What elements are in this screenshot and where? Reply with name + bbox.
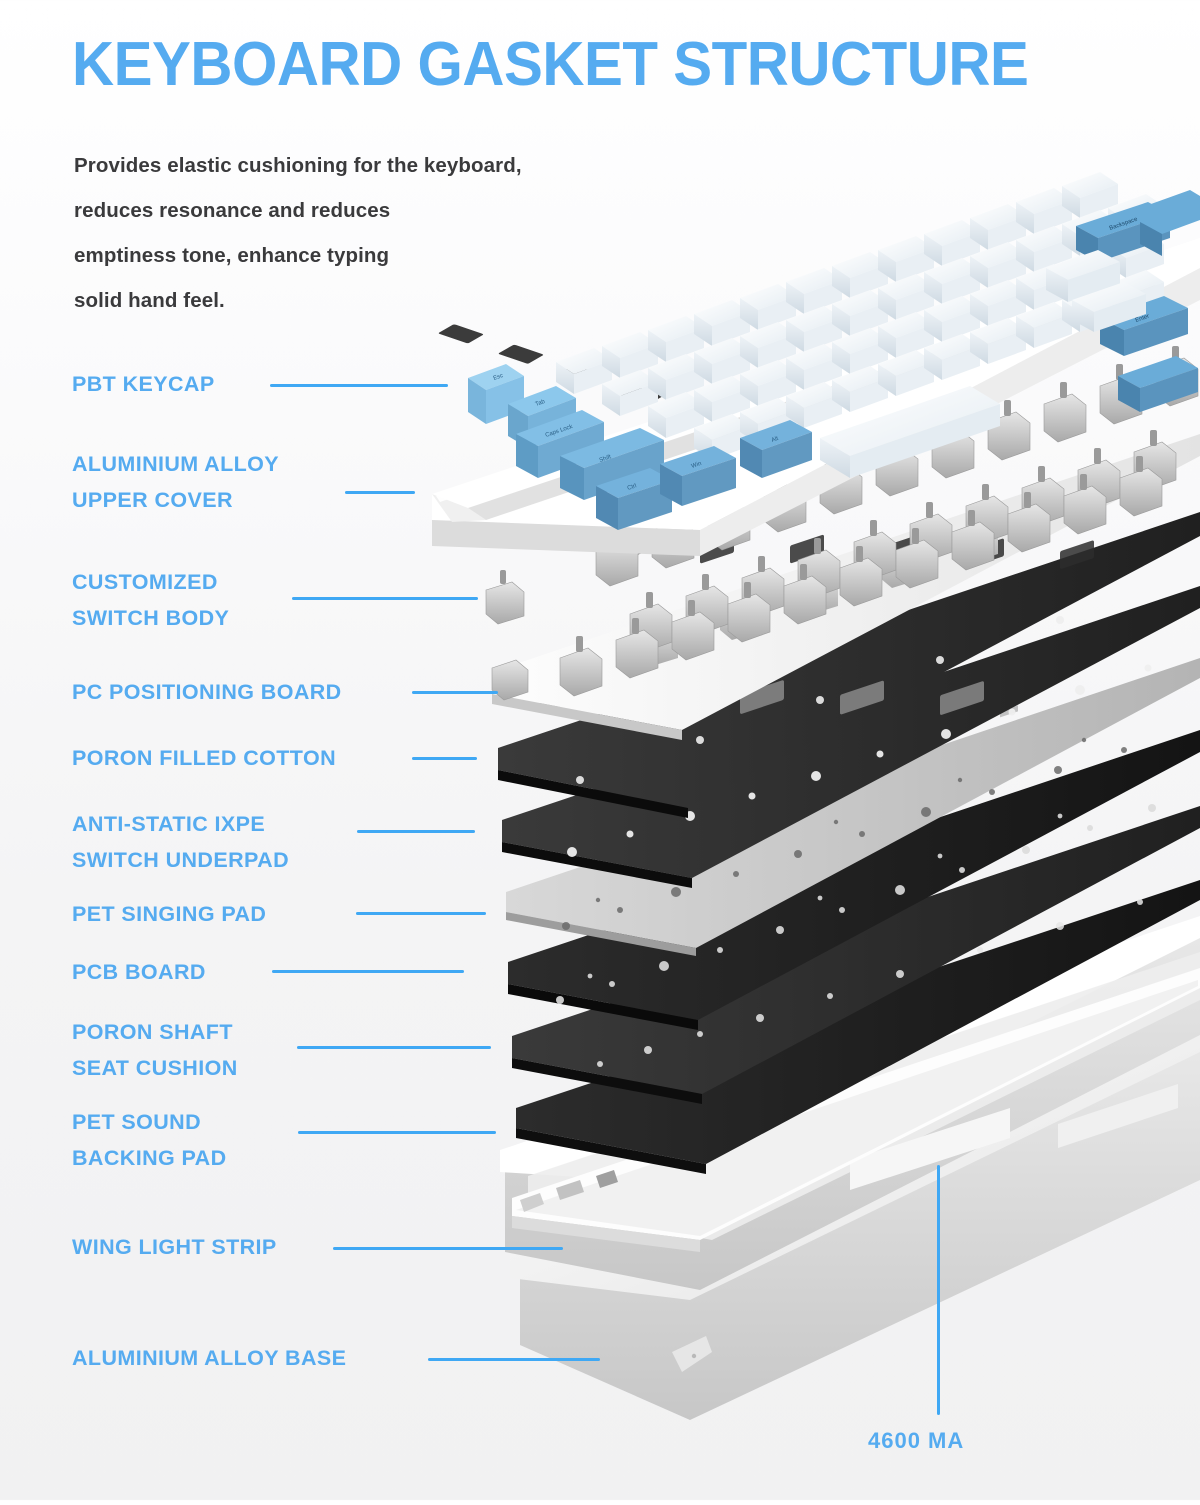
keycap-group-modifiers-right: Backspace Enter <box>1046 190 1200 412</box>
callout-label: PORON SHAFT <box>72 1014 233 1050</box>
callout-label: PET SINGING PAD <box>72 896 266 932</box>
layer-aluminium-alloy-base <box>500 916 1200 1420</box>
svg-text:Shift: Shift <box>599 454 613 464</box>
keycap-win: Win <box>660 446 736 506</box>
svg-text:Caps Lock: Caps Lock <box>545 424 575 439</box>
callout-label: ALUMINIUM ALLOY <box>72 446 279 482</box>
svg-text:Alt: Alt <box>771 436 780 444</box>
leader-line-poron-shaft-seat-cushion <box>297 1046 491 1049</box>
leader-line-battery-capacity <box>937 1165 940 1415</box>
keycap-ctrl-left: Ctrl <box>596 468 672 530</box>
callout-label: PET SOUND <box>72 1104 201 1140</box>
layer-wing-light-strip <box>512 968 1200 1252</box>
layer-anti-static-ixpe-switch-underpad <box>502 586 1200 888</box>
leader-line-pet-singing-pad <box>356 912 486 915</box>
layer-pet-sound-backing-pad <box>516 880 1200 1174</box>
callout-label: PC POSITIONING BOARD <box>72 674 342 710</box>
keycap-caps-lock: Caps Lock <box>516 410 604 478</box>
leader-line-pet-sound-backing-pad <box>298 1131 496 1134</box>
callout-label: PORON FILLED COTTON <box>72 740 336 776</box>
callout-label: ALUMINIUM ALLOY BASE <box>72 1340 346 1376</box>
leader-line-wing-light-strip <box>333 1247 563 1250</box>
page-subtitle: Provides elastic cushioning for the keyb… <box>74 143 522 323</box>
callout-label: SWITCH BODY <box>72 600 229 636</box>
callout-label: WING LIGHT STRIP <box>72 1229 277 1265</box>
leader-line-aluminium-alloy-base <box>428 1358 600 1361</box>
keycap-tab: Tab <box>508 386 576 448</box>
leader-line-poron-filled-cotton <box>412 757 477 760</box>
svg-text:Win: Win <box>691 461 703 470</box>
battery-capacity-label: 4600 MA <box>868 1428 964 1454</box>
keycap-group-modifiers-left: Esc Tab Caps Lock <box>468 364 812 530</box>
leader-line-customized-switch-body <box>292 597 478 600</box>
subtitle-line: Provides elastic cushioning for the keyb… <box>74 143 522 188</box>
keycap-shift-right <box>1140 190 1200 256</box>
layer-pc-positioning-board <box>438 324 1200 740</box>
layer-pet-singing-pad <box>506 658 1200 956</box>
keycap-shift-left: Shift <box>560 428 664 500</box>
callout-label: SEAT CUSHION <box>72 1050 238 1086</box>
page-title: KEYBOARD GASKET STRUCTURE <box>72 34 1028 96</box>
subtitle-line: solid hand feel. <box>74 278 522 323</box>
keycap-ctrl-right <box>1118 356 1198 412</box>
leader-line-pc-positioning-board <box>412 691 498 694</box>
keycap-group-alphas <box>556 172 1164 478</box>
layer-pcb-board <box>508 705 1200 1030</box>
keycap-backspace: Backspace <box>1076 202 1170 262</box>
callout-label: ANTI-STATIC IXPE <box>72 806 265 842</box>
layer-aluminium-alloy-upper-cover <box>432 238 1200 556</box>
leader-line-pcb-board <box>272 970 464 973</box>
callout-label: PBT KEYCAP <box>72 366 215 402</box>
keycap-spacebar <box>820 386 1000 478</box>
keycap-alt: Alt <box>740 420 812 478</box>
switch-bodies-lower <box>560 522 998 692</box>
svg-text:Enter: Enter <box>1135 314 1151 324</box>
svg-text:Backspace: Backspace <box>1109 216 1139 231</box>
keycap-enter: Enter <box>1100 296 1188 356</box>
subtitle-line: emptiness tone, enhance typing <box>74 233 522 278</box>
leader-line-anti-static-ixpe-switch-underpad <box>357 830 475 833</box>
callout-label: BACKING PAD <box>72 1140 227 1176</box>
layer-pbt-keycap: Esc Tab Caps Lock <box>468 172 1200 530</box>
callout-label: CUSTOMIZED <box>72 564 218 600</box>
svg-text:Tab: Tab <box>535 399 547 408</box>
leader-line-aluminium-alloy-upper-cover <box>345 491 415 494</box>
leader-line-pbt-keycap <box>270 384 448 387</box>
layer-customized-switch-body <box>486 346 1198 700</box>
callout-label: UPPER COVER <box>72 482 233 518</box>
keycap-esc: Esc <box>468 364 524 424</box>
svg-text:Esc: Esc <box>493 373 504 382</box>
callout-label: PCB BOARD <box>72 954 206 990</box>
layer-poron-filled-cotton <box>498 512 1200 818</box>
svg-text:Ctrl: Ctrl <box>627 483 638 492</box>
subtitle-line: reduces resonance and reduces <box>74 188 522 233</box>
callout-label: SWITCH UNDERPAD <box>72 842 289 878</box>
layer-poron-shaft-seat-cushion <box>512 806 1200 1104</box>
